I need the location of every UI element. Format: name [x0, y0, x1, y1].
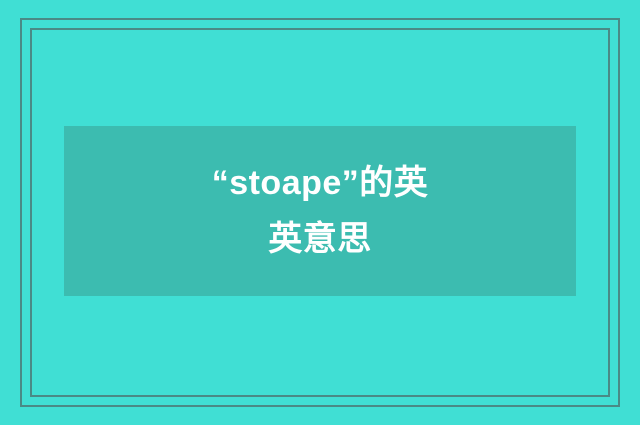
page-title: “stoape”的英英意思	[203, 155, 438, 267]
content-panel: “stoape”的英英意思	[64, 126, 576, 296]
poster-canvas: “stoape”的英英意思	[0, 0, 640, 425]
